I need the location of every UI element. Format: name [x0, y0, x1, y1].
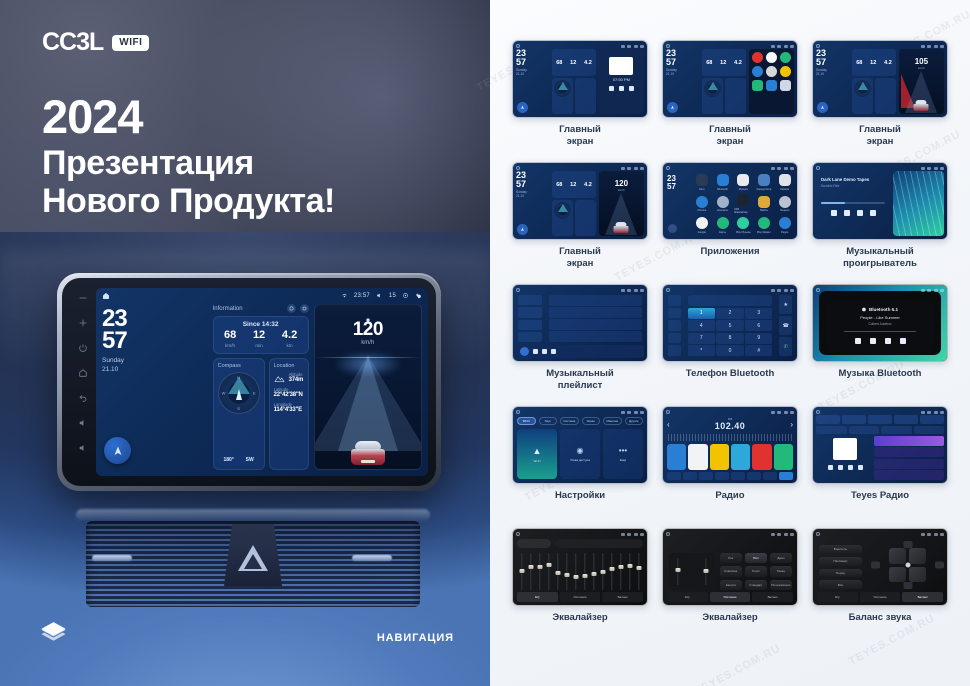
- preset-tile: [752, 444, 771, 470]
- car-head-unit: 23:57 15: [57, 273, 441, 491]
- playlist-sidebar[interactable]: [516, 293, 544, 344]
- hazard-triangle-icon: [238, 545, 268, 571]
- thumbnail-apps[interactable]: 2357 Авто Bluetooth Музыка Калькулятор К…: [662, 162, 798, 240]
- list-item: [549, 295, 642, 306]
- thumbnail-home-apps[interactable]: 2357Sunday21.10 68124.2: [662, 40, 798, 118]
- gallery-item[interactable]: Teyes Радио: [808, 406, 952, 526]
- clock-date: 21.10: [102, 366, 208, 375]
- preset-button[interactable]: Голос: [745, 566, 767, 576]
- gallery-item[interactable]: Водитель Пассажир Перед Все EQ: [808, 528, 952, 648]
- album-art: [609, 57, 633, 75]
- visualizer: [893, 171, 944, 236]
- head-unit-screen[interactable]: 23:57 15: [96, 288, 428, 476]
- phone-number-field[interactable]: [688, 295, 773, 306]
- tab-wifi[interactable]: Wi-Fi: [517, 417, 536, 425]
- status-time: 23:57: [354, 293, 370, 299]
- navigation-fab-button[interactable]: [667, 102, 678, 113]
- wifi-icon: [341, 292, 348, 301]
- dial-key[interactable]: 3: [745, 308, 772, 319]
- gallery-item[interactable]: Музыкальныйплейлист: [508, 284, 652, 404]
- dial-key[interactable]: 0: [716, 345, 743, 356]
- thumbnail-grid: 2357Sunday21.10 68124.2 07:50 PM Главный…: [508, 40, 952, 648]
- thumbnail-caption: Teyes Радио: [851, 490, 909, 502]
- radio-frequency: 102.40: [715, 421, 746, 431]
- equalizer-footer-tabs[interactable]: EQ Усиление Баланс: [817, 592, 943, 602]
- thumbnail-caption: Баланс звука: [849, 612, 912, 624]
- hazard-light-button[interactable]: [224, 524, 282, 586]
- track-album: Colbert Jukebox: [868, 322, 891, 326]
- car-3d-model: [351, 441, 385, 463]
- thumbnail-sound-balance[interactable]: Водитель Пассажир Перед Все EQ: [812, 528, 948, 606]
- dial-key[interactable]: #: [745, 345, 772, 356]
- gallery-item[interactable]: 2357Sunday21.10 68124.2 120 km/h Главный…: [508, 162, 652, 282]
- head-unit-bezel: 23:57 15: [62, 278, 436, 486]
- more-icon: •••: [619, 446, 627, 455]
- station-presets[interactable]: [667, 444, 793, 470]
- navigation-caption: НАВИГАЦИЯ: [377, 632, 454, 644]
- list-item: [549, 319, 642, 330]
- preset-button[interactable]: Кантри: [720, 580, 742, 590]
- navigation-fab-button[interactable]: [517, 102, 528, 113]
- air-vent-strip: [86, 521, 420, 607]
- thumbnail-caption: Главныйэкран: [859, 124, 901, 147]
- thumbnail-radio[interactable]: ‹ FM 102.40 ›: [662, 406, 798, 484]
- thumbnail-music-player[interactable]: Dark Lane Demo Tapes Dominic Fike: [812, 162, 948, 240]
- home-screen-body: 23 57 Sunday 21.10: [96, 304, 428, 476]
- equalizer-bands[interactable]: [518, 553, 642, 590]
- tab-eq[interactable]: EQ: [517, 592, 558, 602]
- list-item: [874, 447, 944, 457]
- wifi-badge: WIFI: [112, 35, 149, 51]
- app-shortcuts-panel[interactable]: [749, 49, 794, 114]
- balance-presets[interactable]: Водитель Пассажир Перед Все: [819, 545, 862, 589]
- status-bar: 23:57 15: [96, 288, 428, 304]
- dial-key[interactable]: *: [688, 345, 715, 356]
- arrow-down-button[interactable]: [903, 582, 912, 589]
- thumbnail-playlist[interactable]: [512, 284, 648, 362]
- list-item: [874, 470, 944, 480]
- gallery-item[interactable]: Рок Поп Джаз Классика Голос Танец Кантри…: [658, 528, 802, 648]
- thumbnail-caption: Приложения: [700, 246, 759, 258]
- arrow-right-button[interactable]: [935, 562, 944, 569]
- now-playing-bar[interactable]: [516, 345, 644, 358]
- dialer-actions[interactable]: ★ ☎ ✆: [777, 293, 794, 358]
- navigation-fab-button[interactable]: [104, 437, 131, 464]
- thumbnail-bluetooth-phone[interactable]: 1 2 3 4 5 6 7 8 9 * 0 #: [662, 284, 798, 362]
- compass-title: Compass: [218, 363, 260, 369]
- speed-value: 120: [599, 179, 644, 188]
- speedometer-widget[interactable]: 120 km/h: [314, 304, 422, 470]
- clock-day: Sunday: [102, 357, 208, 366]
- compass-direction: SW: [246, 457, 254, 463]
- tab-other[interactable]: Другие: [625, 417, 644, 425]
- dial-key[interactable]: 6: [745, 320, 772, 331]
- gallery-item[interactable]: 2357Sunday21.10 68124.2: [658, 40, 802, 160]
- thumbnail-settings[interactable]: Wi-Fi Звук Система Экран Машина Другие ▲…: [512, 406, 648, 484]
- thumbnail-caption: Музыкальныйплейлист: [546, 368, 614, 391]
- list-item: [874, 459, 944, 469]
- navigation-fab-button[interactable]: [517, 224, 528, 235]
- information-title: Information: [213, 306, 243, 312]
- clock-minutes: 57: [102, 330, 208, 352]
- tab-eq[interactable]: EQ: [667, 592, 708, 602]
- back-icon[interactable]: [77, 392, 89, 404]
- preset-tile: [731, 444, 750, 470]
- hero-title-line2: Нового Продукта!: [42, 182, 335, 220]
- thumbnail-home-road[interactable]: 2357Sunday21.10 68124.2 120 km/h: [512, 162, 648, 240]
- compass-s: S: [237, 406, 240, 411]
- thumbnail-caption: Музыка Bluetooth: [839, 368, 922, 380]
- dial-key[interactable]: 8: [716, 333, 743, 344]
- teyes-radio-tabs[interactable]: [816, 415, 944, 424]
- compass-w: W: [222, 391, 226, 396]
- volume-down-icon[interactable]: [77, 417, 89, 429]
- tab-car[interactable]: Машина: [603, 417, 622, 425]
- thumbnail-equalizer-presets[interactable]: Рок Поп Джаз Классика Голос Танец Кантри…: [662, 528, 798, 606]
- location-widget[interactable]: Location Altitude 374m: [269, 358, 309, 470]
- vent-chrome-trim: [76, 509, 430, 521]
- speed-unit: km/h: [315, 340, 421, 346]
- preset-tile: [667, 444, 686, 470]
- preset-button[interactable]: Все: [819, 580, 862, 589]
- thumbnail-caption: Главныйэкран: [559, 246, 601, 269]
- frequency-scale[interactable]: [668, 434, 792, 441]
- balance-center-point[interactable]: [905, 563, 910, 568]
- longitude-value: 114°4'33"E: [274, 407, 304, 413]
- dialpad[interactable]: 1 2 3 4 5 6 7 8 9 * 0 #: [688, 308, 773, 356]
- tab-gain[interactable]: Усиление: [710, 592, 751, 602]
- preset-button[interactable]: Танец: [770, 566, 792, 576]
- tab-balance[interactable]: Баланс: [902, 592, 943, 602]
- volume-icon: [376, 292, 383, 301]
- teyes-station-list[interactable]: [874, 436, 944, 480]
- thumbnail-equalizer[interactable]: EQ Усиление Баланс: [512, 528, 648, 606]
- track-title: Dark Lane Demo Tapes: [821, 177, 885, 182]
- location-title: Location: [274, 363, 304, 369]
- compass-n: N: [237, 375, 240, 380]
- back-icon[interactable]: [668, 224, 677, 233]
- compass-heading: 180°: [223, 457, 233, 463]
- playlist-rows[interactable]: [547, 293, 644, 344]
- preset-button[interactable]: Водитель: [819, 545, 862, 554]
- compass-e: E: [253, 391, 256, 396]
- balance-pad[interactable]: [882, 541, 933, 589]
- gallery-item[interactable]: 1 2 3 4 5 6 7 8 9 * 0 #: [658, 284, 802, 404]
- stat-value: 68: [224, 330, 236, 341]
- prev-station-button[interactable]: ‹: [667, 420, 670, 429]
- dial-key[interactable]: 7: [688, 333, 715, 344]
- stat-item: 12 min: [253, 330, 265, 348]
- head-unit-side-buttons: [70, 288, 96, 476]
- home-icon[interactable]: [102, 288, 110, 305]
- altitude-value: 374m: [289, 377, 304, 383]
- hero-panel: 23:57 15: [0, 0, 490, 686]
- information-widget[interactable]: Information: [213, 304, 309, 354]
- gallery-item[interactable]: Wi-Fi Звук Система Экран Машина Другие ▲…: [508, 406, 652, 526]
- power-icon[interactable]: [77, 342, 89, 354]
- speed-value: 120: [315, 319, 421, 341]
- tab-gain[interactable]: Усиление: [860, 592, 901, 602]
- navigation-fab-button[interactable]: [817, 102, 828, 113]
- tab-sound[interactable]: Звук: [539, 417, 558, 425]
- gallery-item[interactable]: 2357 Авто Bluetooth Музыка Калькулятор К…: [658, 162, 802, 282]
- list-item: [874, 436, 944, 446]
- thumbnail-caption: Главныйэкран: [709, 124, 751, 147]
- info-column: Information: [213, 304, 309, 470]
- thumbnail-caption: Телефон Bluetooth: [686, 368, 775, 380]
- tab-eq[interactable]: EQ: [817, 592, 858, 602]
- preset-button[interactable]: Поп: [745, 553, 767, 563]
- road-visualization: 105 km/h: [899, 49, 944, 114]
- next-station-button[interactable]: ›: [790, 420, 793, 429]
- thumbnail-caption: Эквалайзер: [702, 612, 757, 624]
- dial-key[interactable]: 5: [716, 320, 743, 331]
- screenshot-gallery: TEYES.COM.RU TEYES.COM.RU TEYES.COM.RU T…: [490, 0, 970, 686]
- equalizer-footer-tabs[interactable]: EQ Усиление Баланс: [517, 592, 643, 602]
- latitude-value: 22°42'38"N: [274, 392, 304, 398]
- compass-dial: N E S W: [218, 372, 260, 414]
- preset-button[interactable]: Джаз: [770, 553, 792, 563]
- trip-stats: 68 km/h 12 min 4.2: [214, 330, 308, 353]
- gallery-item[interactable]: ‹ FM 102.40 ›: [658, 406, 802, 526]
- list-item: [549, 331, 642, 342]
- plus-icon[interactable]: [77, 317, 89, 329]
- preset-button[interactable]: Классика: [720, 566, 742, 576]
- contacts-icon: ☎: [779, 316, 792, 335]
- card-wifi[interactable]: ▲ Wi-Fi: [517, 429, 557, 479]
- volume-level: 15: [389, 293, 396, 299]
- settings-cards[interactable]: ▲ Wi-Fi ◉ Точка доступа ••• Ещё: [517, 429, 643, 479]
- thumbnail-teyes-radio[interactable]: [812, 406, 948, 484]
- thumbnail-caption: Настройки: [555, 490, 605, 502]
- tab-gain[interactable]: Усиление: [560, 592, 601, 602]
- dialer-sidebar[interactable]: [666, 293, 683, 358]
- call-icon: ✆: [779, 337, 792, 356]
- preset-button[interactable]: Рок: [720, 553, 742, 563]
- equalizer-footer-tabs[interactable]: EQ Усиление Баланс: [667, 592, 793, 602]
- media-widget[interactable]: 07:50 PM: [599, 49, 644, 114]
- bluetooth-icon: ⬢: [862, 307, 866, 313]
- vent-slider-left[interactable]: [92, 555, 132, 561]
- stat-item: 4.2 km: [282, 330, 297, 348]
- dial-key[interactable]: 2: [716, 308, 743, 319]
- tab-balance[interactable]: Баланс: [602, 592, 643, 602]
- tab-display[interactable]: Экран: [582, 417, 601, 425]
- thumbnail-home-media[interactable]: 2357Sunday21.10 68124.2 07:50 PM: [512, 40, 648, 118]
- hero-year: 2024: [42, 93, 335, 140]
- hotspot-icon: ◉: [577, 446, 584, 455]
- preset-button[interactable]: Стандарт: [745, 580, 767, 590]
- dial-key[interactable]: 4: [688, 320, 715, 331]
- speed-value: 105: [899, 57, 944, 66]
- gallery-item[interactable]: EQ Усиление Баланс Эквалайзер: [508, 528, 652, 648]
- bt-player-card: ⬢Bluetooth 5.1 People - Like Summer Colb…: [826, 299, 933, 352]
- gallery-item[interactable]: Dark Lane Demo Tapes Dominic Fike Музыка…: [808, 162, 952, 282]
- card-hotspot[interactable]: ◉ Точка доступа: [560, 429, 600, 479]
- album-art: [833, 438, 857, 460]
- app-grid[interactable]: Авто Bluetooth Музыка Калькулятор Камера…: [692, 172, 794, 236]
- tab-balance[interactable]: Баланс: [752, 592, 793, 602]
- track-artist: Dominic Fike: [821, 184, 885, 188]
- preset-button[interactable]: Пассажир: [819, 557, 862, 566]
- stat-value: 4.2: [282, 330, 297, 341]
- radio-toolbar[interactable]: [667, 472, 793, 480]
- thumbnail-caption: Радио: [715, 490, 744, 502]
- preset-display[interactable]: [555, 539, 643, 548]
- road-visualization: 120 km/h: [599, 171, 644, 236]
- track-title: People - Like Summer: [860, 315, 900, 320]
- preset-tile: [710, 444, 729, 470]
- thumbnail-home-road-red[interactable]: 2357Sunday21.10 68124.2 105 km/h: [812, 40, 948, 118]
- bt-device-name: Bluetooth 5.1: [869, 307, 898, 312]
- volume-up-icon[interactable]: [77, 442, 89, 454]
- teyes-radio-filters[interactable]: [816, 426, 944, 434]
- watermark: TEYES.COM.RU: [693, 642, 783, 686]
- gain-sliders[interactable]: [669, 553, 715, 590]
- preset-buttons[interactable]: Рок Поп Джаз Классика Голос Танец Кантри…: [720, 553, 792, 590]
- thumbnail-bluetooth-music[interactable]: ⬢Bluetooth 5.1 People - Like Summer Colb…: [812, 284, 948, 362]
- presentation-page: 23:57 15: [0, 0, 970, 686]
- thumbnail-caption: Музыкальныйпроигрыватель: [843, 246, 917, 269]
- expand-icon[interactable]: [300, 304, 309, 313]
- playback-controls[interactable]: [855, 338, 906, 344]
- preset-button[interactable]: Пользователь: [770, 580, 792, 590]
- refresh-icon[interactable]: [287, 304, 296, 313]
- playback-controls[interactable]: [816, 465, 875, 470]
- preset-button[interactable]: Перед: [819, 569, 862, 578]
- teyes-now-playing: [816, 436, 875, 480]
- road-visualization: [315, 349, 421, 469]
- preset-selector[interactable]: [517, 539, 551, 548]
- list-item: [549, 307, 642, 318]
- hero-title-line1: Презентация: [42, 144, 335, 182]
- card-more[interactable]: ••• Ещё: [603, 429, 643, 479]
- logo-text: CC3L: [42, 28, 103, 57]
- layers-icon: [40, 620, 67, 649]
- playback-controls[interactable]: [821, 210, 885, 216]
- thumbnail-caption: Главныйэкран: [559, 124, 601, 147]
- home-icon[interactable]: [77, 367, 89, 379]
- dial-key[interactable]: 1: [688, 308, 715, 319]
- tab-system[interactable]: Система: [560, 417, 579, 425]
- stat-item: 68 km/h: [224, 330, 236, 348]
- thumbnail-caption: Эквалайзер: [552, 612, 607, 624]
- stat-value: 12: [253, 330, 265, 341]
- preset-tile: [688, 444, 707, 470]
- settings-tabs[interactable]: Wi-Fi Звук Система Экран Машина Другие: [517, 417, 643, 425]
- settings-icon[interactable]: [402, 292, 409, 301]
- gallery-item[interactable]: ⬢Bluetooth 5.1 People - Like Summer Colb…: [808, 284, 952, 404]
- album-art: [520, 347, 529, 356]
- stat-unit: min: [253, 343, 265, 348]
- progress-bar[interactable]: [844, 331, 917, 332]
- minus-icon[interactable]: [77, 292, 89, 304]
- gallery-item[interactable]: 2357Sunday21.10 68124.2 105 km/h: [808, 40, 952, 160]
- gallery-item[interactable]: 2357Sunday21.10 68124.2 07:50 PM Главный…: [508, 40, 652, 160]
- vent-slider-right[interactable]: [352, 555, 392, 561]
- mountain-icon: [274, 374, 285, 383]
- hero-heading-block: CC3L WIFI 2024 Презентация Нового Продук…: [42, 28, 335, 220]
- back-icon[interactable]: [415, 292, 422, 301]
- arrow-left-button[interactable]: [871, 562, 880, 569]
- stat-unit: km: [282, 343, 297, 348]
- compass-widget[interactable]: Compass N E S W 180°: [213, 358, 265, 470]
- equalizer-header[interactable]: [517, 538, 643, 549]
- product-logo: CC3L WIFI: [42, 28, 335, 57]
- preset-tile: [774, 444, 793, 470]
- wifi-icon: ▲: [533, 446, 542, 456]
- progress-bar[interactable]: [821, 202, 885, 204]
- navigation-icon: [112, 445, 124, 457]
- stat-unit: km/h: [224, 343, 236, 348]
- star-icon: ★: [779, 295, 792, 314]
- dial-key[interactable]: 9: [745, 333, 772, 344]
- clock-widget[interactable]: 23 57 Sunday 21.10: [102, 304, 208, 470]
